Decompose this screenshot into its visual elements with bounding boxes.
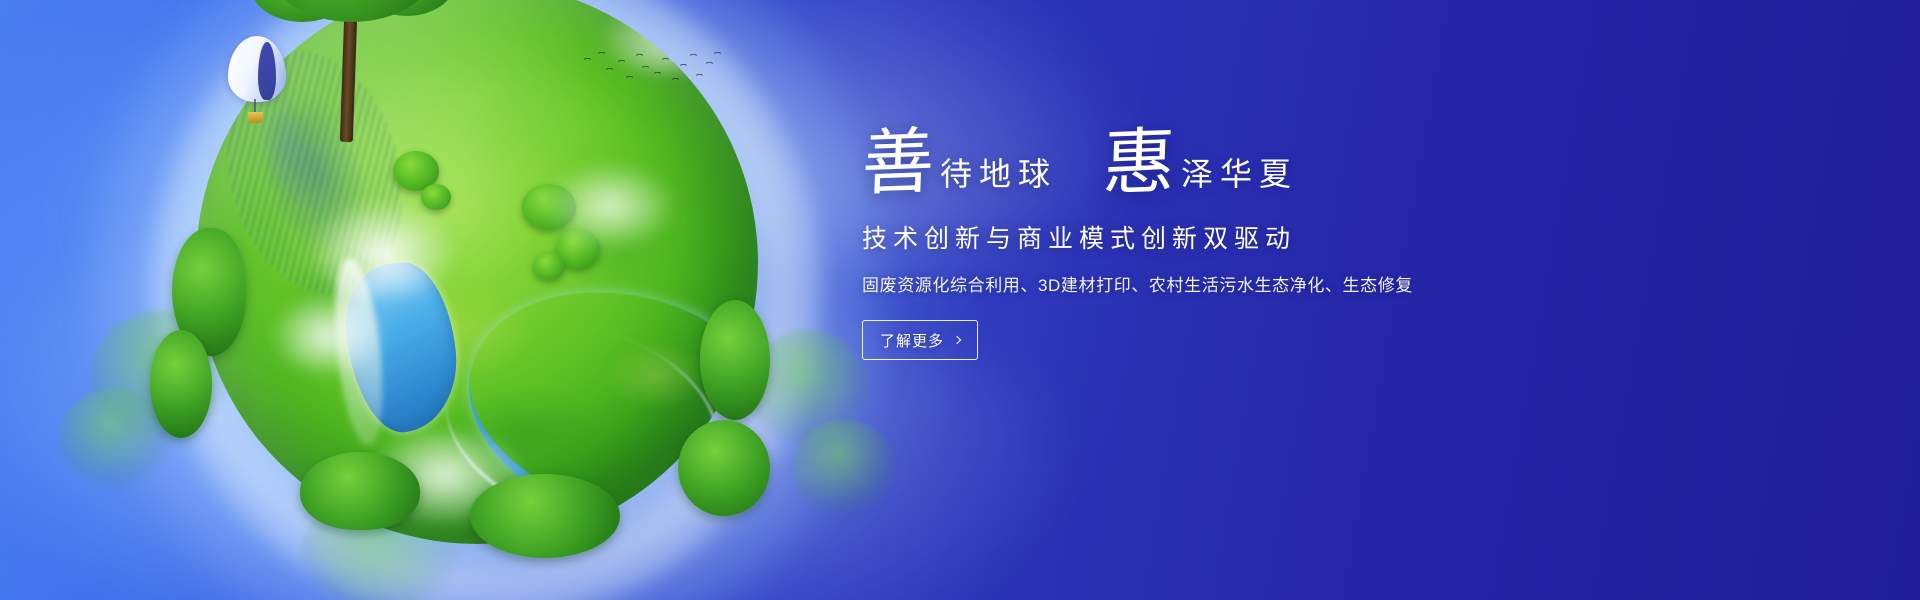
hero-subtitle: 技术创新与商业模式创新双驱动 (862, 219, 1482, 255)
hero-description: 固废资源化综合利用、3D建材打印、农村生活污水生态净化、生态修复 (862, 271, 1482, 296)
tree-icon (300, 452, 420, 530)
learn-more-button[interactable]: 了解更多 (862, 320, 978, 360)
balloon-rope (254, 99, 256, 113)
bird-flock-icon (580, 48, 720, 96)
headline-brush-char-2: 惠 (1102, 127, 1177, 199)
headline-rest-2: 泽华夏 (1181, 158, 1298, 197)
chevron-right-icon (953, 336, 961, 344)
page-title: 善 待地球 惠 泽华夏 (862, 128, 1482, 197)
tree-icon (678, 420, 770, 516)
hero-banner: 善 待地球 惠 泽华夏 技术创新与商业模式创新双驱动 固废资源化综合利用、3D建… (0, 0, 1920, 600)
hot-air-balloon-icon (228, 36, 286, 128)
headline-rest-1: 待地球 (940, 158, 1057, 197)
hero-copy: 善 待地球 惠 泽华夏 技术创新与商业模式创新双驱动 固废资源化综合利用、3D建… (862, 128, 1482, 360)
headline-brush-char-1: 善 (861, 127, 936, 199)
shrub-icon (522, 184, 576, 230)
tree-icon (700, 300, 770, 420)
learn-more-label: 了解更多 (880, 330, 944, 351)
balloon-envelope (228, 36, 286, 102)
tree-icon (150, 330, 212, 438)
tree-trunk (340, 16, 357, 142)
shrub-icon (421, 184, 451, 210)
balloon-basket (248, 112, 263, 123)
shrub-icon (533, 252, 565, 280)
tree-icon (470, 474, 620, 558)
tree-icon (792, 420, 896, 518)
